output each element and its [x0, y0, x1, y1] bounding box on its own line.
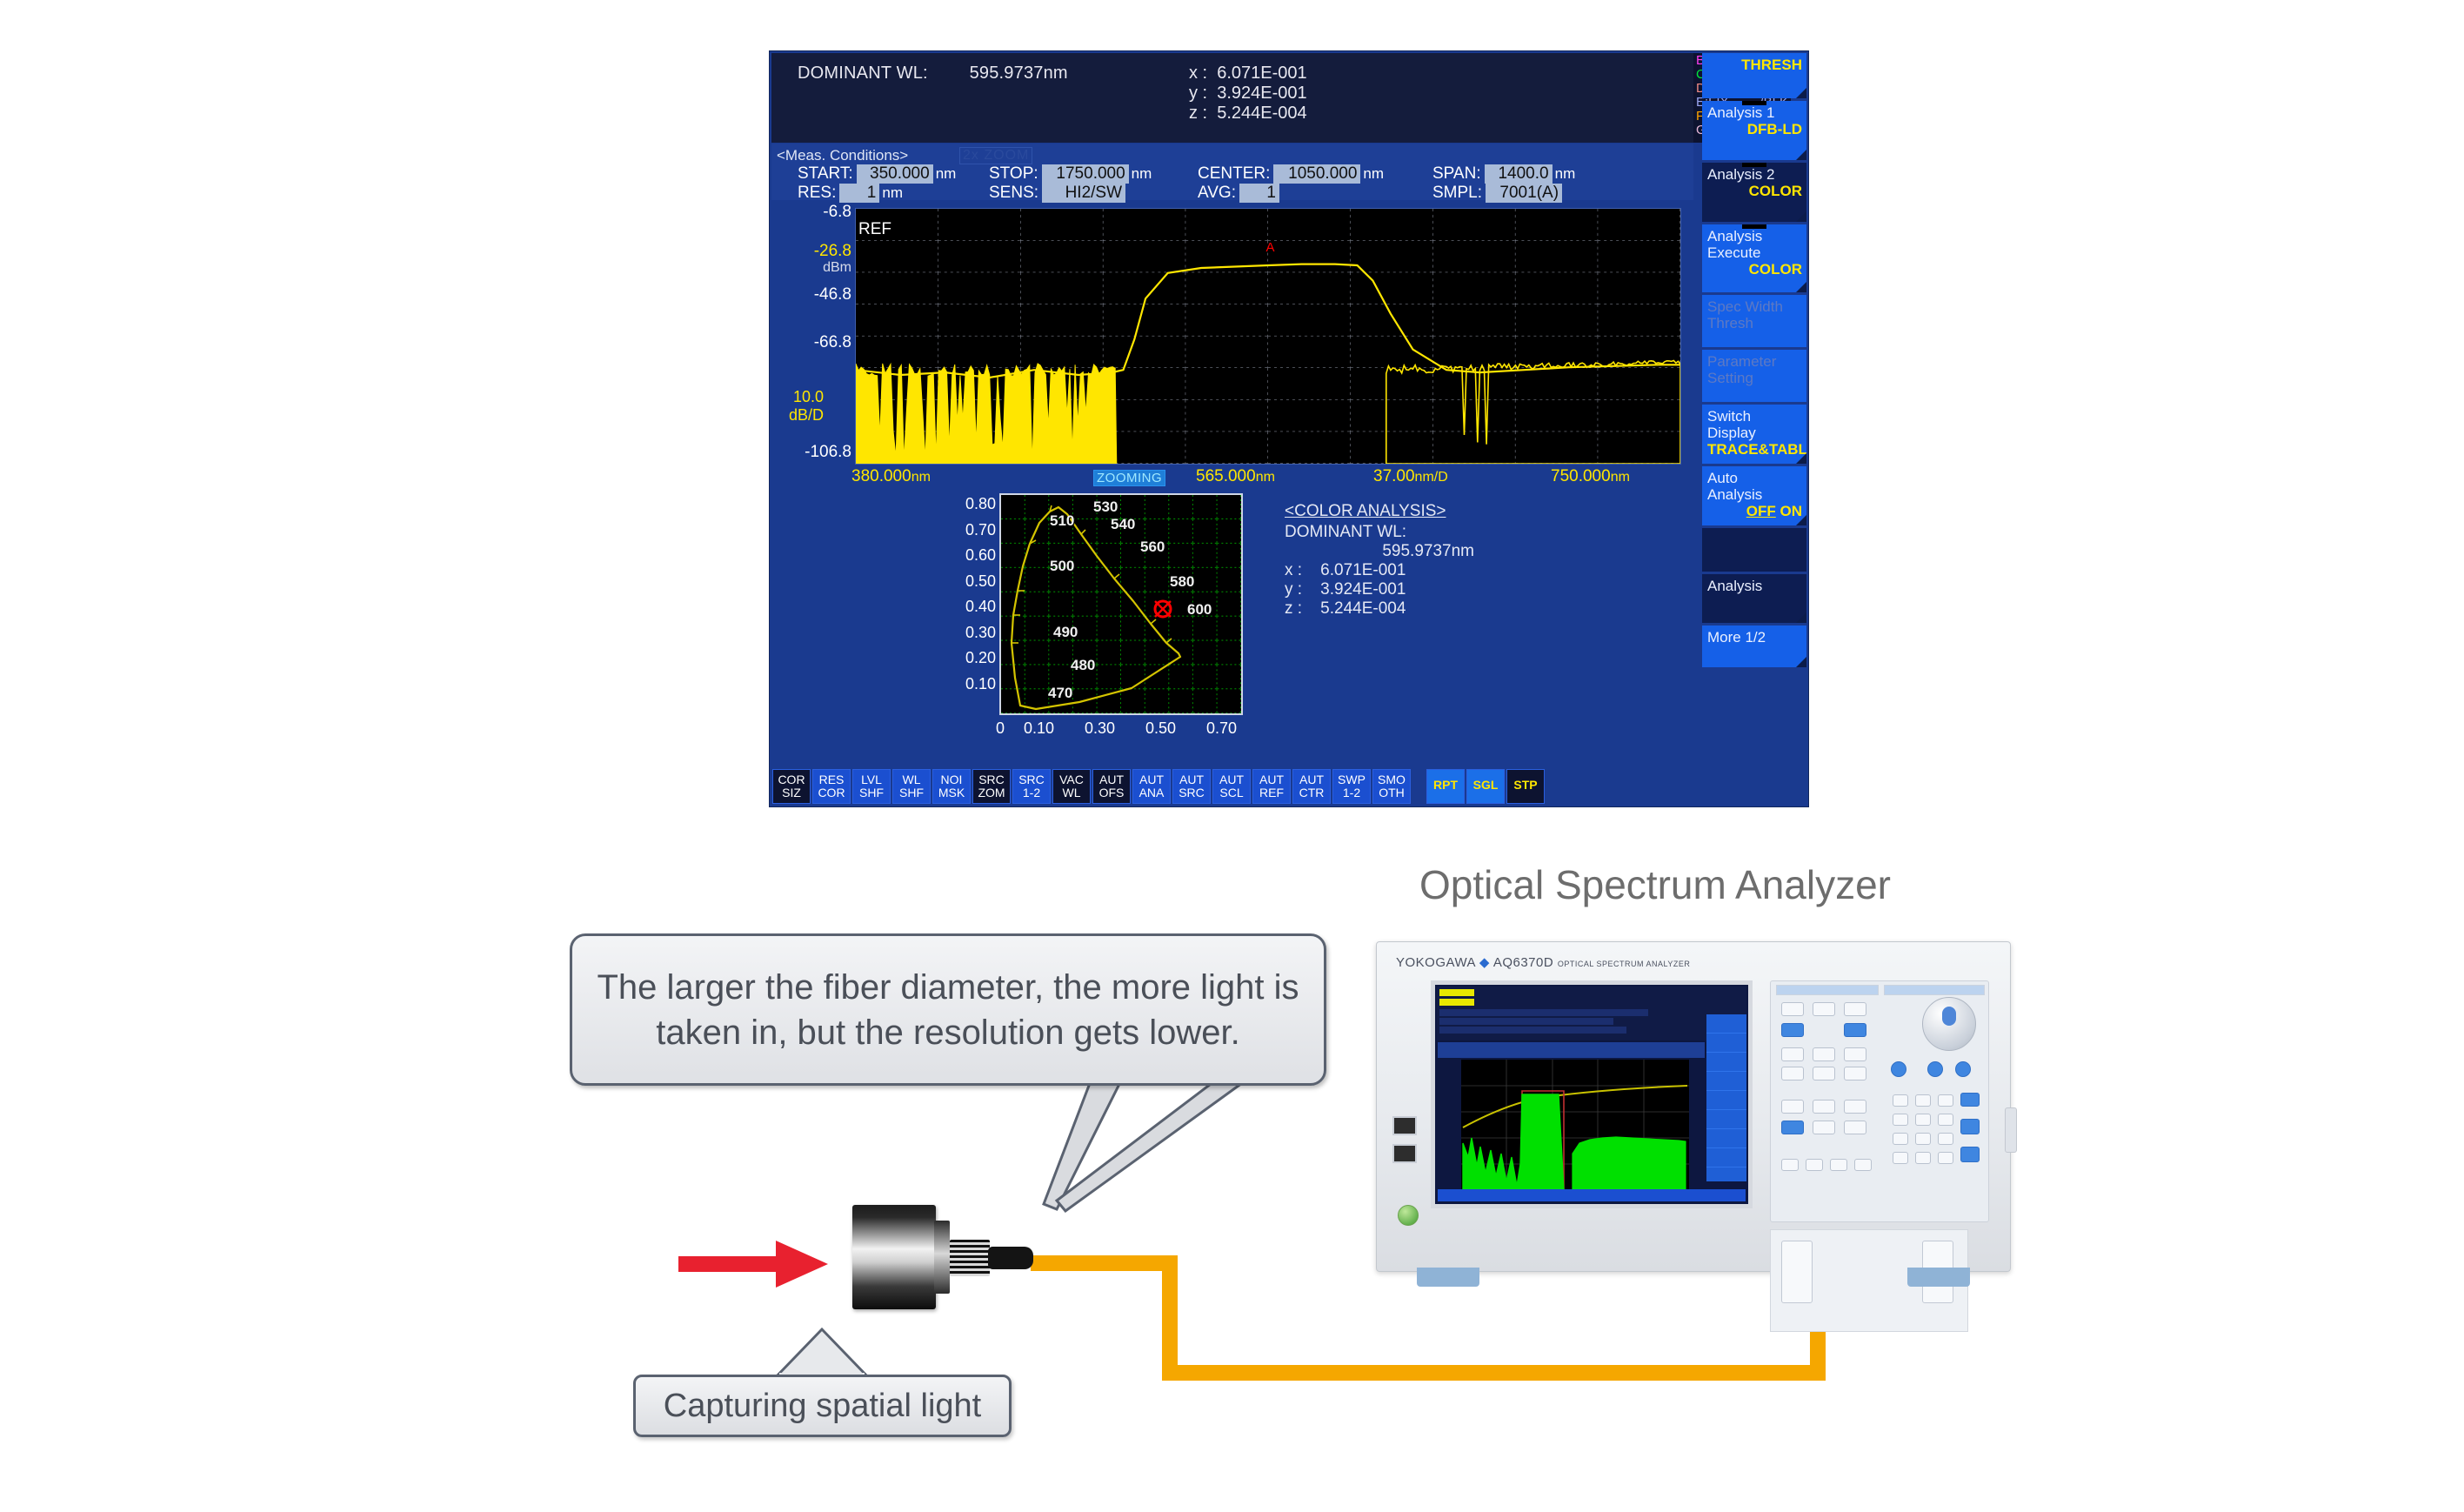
keybar-line2: COR	[813, 786, 850, 799]
keybar-line1: COR	[773, 773, 810, 786]
y-tick-ref: -26.8	[814, 242, 851, 261]
softkey-off-state[interactable]: OFF	[1746, 503, 1776, 519]
keybar-key-src-1-2[interactable]: SRC1-2	[1012, 769, 1051, 804]
x-value-row: x : 6.071E-001	[1189, 64, 1307, 84]
chroma-wavelength-tag: 580	[1170, 573, 1194, 591]
softkey-corner-icon	[1796, 282, 1806, 292]
collimator-body	[852, 1205, 936, 1309]
softkey-analysis-2[interactable]: Analysis 2COLOR	[1702, 163, 1806, 222]
ca-y-row: y : 3.924E-001	[1285, 580, 1511, 599]
x-axis-labels: 380.000nm ZOOMING 565.000nm 37.00nm/D 75…	[771, 467, 1693, 492]
softkey-corner-icon	[1796, 453, 1806, 464]
meas-field-smpl[interactable]: SMPL:7001(A)	[1432, 184, 1565, 203]
keybar-line1: AUT	[1173, 773, 1210, 786]
keybar-line2: MSK	[933, 786, 970, 799]
balloon-tail-right	[1057, 1079, 1248, 1211]
keybar-line2: OFS	[1093, 786, 1130, 799]
meas-field-key: RES:	[798, 184, 836, 203]
y-value-row: y : 3.924E-001	[1189, 84, 1307, 104]
ca-dominant-label: DOMINANT WL:	[1285, 523, 1511, 542]
softkey-corner-icon	[1796, 515, 1806, 525]
keybar-line1: WL	[893, 773, 930, 786]
keybar-key-vac-wl[interactable]: VACWL	[1052, 769, 1091, 804]
meas-field-stop[interactable]: STOP:1750.000nm	[989, 164, 1152, 184]
y-axis-unit: dBm	[823, 260, 851, 276]
meas-field-value: 7001(A)	[1486, 184, 1562, 203]
color-analysis-header: DOMINANT WL: 595.9737nm x : 6.071E-001 y…	[771, 53, 1693, 143]
keybar-line1: LVL	[853, 773, 890, 786]
instrument-softkeys	[1706, 1014, 1746, 1181]
meas-field-start[interactable]: START:350.000nm	[798, 164, 956, 184]
dominant-wavelength-header: DOMINANT WL: 595.9737nm	[798, 64, 1068, 84]
meas-field-value: 1050.000	[1273, 164, 1360, 184]
softkey-auto-analysis[interactable]: Auto AnalysisOFF ON	[1702, 466, 1806, 525]
keybar-line1: NOI	[933, 773, 970, 786]
keybar-line1: RES	[813, 773, 850, 786]
ref-level-marker: REF	[858, 220, 891, 239]
keybar-line1: AUT	[1093, 773, 1130, 786]
keybar-line1: SMO	[1373, 773, 1410, 786]
keybar-line1: AUT	[1213, 773, 1250, 786]
dominant-wl-label: DOMINANT WL:	[798, 64, 928, 84]
softkey-analysis-execute[interactable]: Analysis ExecuteCOLOR	[1702, 224, 1806, 292]
softkey-label: Switch Display	[1707, 408, 1802, 441]
chroma-x-tick: 0.30	[1085, 719, 1115, 738]
capture-label-tail	[774, 1329, 870, 1379]
capture-label: Capturing spatial light	[633, 1375, 1012, 1437]
bottom-keybar[interactable]: CORSIZRESCORLVLSHFWLSHFNOIMSKSRCZOMSRC1-…	[771, 768, 1793, 805]
chroma-wavelength-tag: 470	[1048, 685, 1072, 702]
softkey-item[interactable]	[1702, 528, 1806, 572]
chroma-y-tick: 0.40	[965, 598, 996, 616]
meas-field-span[interactable]: SPAN:1400.0nm	[1432, 164, 1575, 184]
y-div-unit: dB/D	[789, 406, 824, 425]
optical-input-port[interactable]	[1781, 1241, 1813, 1303]
keybar-line1: AUT	[1133, 773, 1170, 786]
softkey-corner-icon	[1796, 150, 1806, 160]
softkey-label: Parameter Setting	[1707, 353, 1802, 386]
keybar-key-src-zom[interactable]: SRCZOM	[972, 769, 1011, 804]
ca-z-row: z : 5.244E-004	[1285, 599, 1511, 619]
z-value-row: z : 5.244E-004	[1189, 104, 1307, 124]
ca-dominant-value: 595.9737nm	[1285, 542, 1511, 561]
softkey-menu[interactable]: THRESHAnalysis 1DFB-LDAnalysis 2COLORAna…	[1702, 53, 1806, 784]
rotary-dial[interactable]	[1922, 997, 1976, 1051]
meas-field-value: HI2/SW	[1042, 184, 1125, 203]
meas-field-value: 350.000	[857, 164, 933, 184]
meas-field-key: SPAN:	[1432, 164, 1481, 184]
chroma-wavelength-tag: 510	[1050, 512, 1074, 530]
keybar-line1: AUT	[1253, 773, 1290, 786]
osa-instrument: YOKOGAWA ◆ AQ6370D OPTICAL SPECTRUM ANAL…	[1376, 941, 2011, 1272]
meas-field-key: SENS:	[989, 184, 1038, 203]
keybar-line2: CTR	[1293, 786, 1330, 799]
page-title: Optical Spectrum Analyzer	[1419, 861, 1891, 908]
meas-field-center[interactable]: CENTER:1050.000nm	[1198, 164, 1384, 184]
instrument-bottom-bar	[1438, 1189, 1746, 1201]
keybar-line2: ANA	[1133, 786, 1170, 799]
zooming-badge: ZOOMING	[1093, 470, 1165, 486]
collimator-flange	[934, 1221, 950, 1294]
keybar-key-aut-ref[interactable]: AUTREF	[1252, 769, 1291, 804]
softkey-nub-icon	[1742, 224, 1766, 229]
x-tick-center: 565.000nm	[1196, 467, 1275, 486]
softkey-sub-label: TRACE&TABLE	[1707, 441, 1802, 458]
measurement-conditions-panel: <Meas. Conditions> 2x ZOOM START:350.000…	[771, 144, 1693, 200]
instrument-plot-svg	[1461, 1060, 1689, 1190]
spectrum-graph[interactable]: -6.8 -26.8 dBm -46.8 -66.8 10.0 dB/D -10…	[771, 201, 1693, 488]
spectrum-plot-area[interactable]: A	[855, 208, 1681, 465]
keybar-key-swp-1-2[interactable]: SWP1-2	[1332, 769, 1371, 804]
softkey-label: Analysis 2	[1707, 166, 1802, 183]
usb-port-lower	[1392, 1144, 1417, 1163]
color-analysis-title: <COLOR ANALYSIS>	[1285, 502, 1511, 521]
keybar-line1: VAC	[1053, 773, 1090, 786]
callout-text: The larger the fiber diameter, the more …	[595, 965, 1301, 1055]
instrument-keypad	[1770, 980, 1989, 1222]
softkey-label: Spec Width Thresh	[1707, 298, 1802, 331]
chromaticity-diagram[interactable]: 0.800.700.600.500.400.300.200.10	[958, 492, 1271, 753]
incoming-light-arrow	[678, 1234, 835, 1295]
softkey-thresh[interactable]: THRESH	[1702, 53, 1806, 98]
meas-conditions-title: <Meas. Conditions>	[777, 147, 908, 164]
instrument-display-header	[1437, 987, 1746, 1040]
x-div-label: 37.00nm/D	[1373, 467, 1448, 486]
keybar-key-lvl-shf[interactable]: LVLSHF	[852, 769, 891, 804]
x-tick-start: 380.000nm	[851, 467, 931, 486]
usb-port-upper	[1392, 1116, 1417, 1135]
meas-field-key: STOP:	[989, 164, 1038, 184]
softkey-sub-label: COLOR	[1707, 261, 1802, 278]
chroma-wavelength-tag: 480	[1071, 657, 1095, 674]
instrument-subtitle: OPTICAL SPECTRUM ANALYZER	[1558, 960, 1691, 968]
callout-balloon: The larger the fiber diameter, the more …	[570, 933, 1326, 1086]
chroma-x-tick: 0.50	[1145, 719, 1176, 738]
instrument-foot-right	[1907, 1268, 1970, 1287]
chroma-x-tick: 0.10	[1024, 719, 1054, 738]
ca-x-row: x : 6.071E-001	[1285, 561, 1511, 580]
meas-field-key: CENTER:	[1198, 164, 1270, 184]
keybar-key-smo-oth[interactable]: SMOOTH	[1372, 769, 1411, 804]
brand-diamond-icon: ◆	[1479, 955, 1493, 970]
softkey-more-1-2[interactable]: More 1/2	[1702, 626, 1806, 667]
spectrum-svg: A	[856, 209, 1680, 464]
meas-field-unit: nm	[882, 184, 903, 202]
softkey-switch-display[interactable]: Switch DisplayTRACE&TABLE	[1702, 405, 1806, 464]
y-tick-0: -6.8	[823, 203, 851, 222]
meas-field-key: AVG:	[1198, 184, 1236, 203]
meas-field-unit: nm	[1555, 165, 1576, 183]
keybar-line1: SRC	[973, 773, 1010, 786]
softkey-sub-label: DFB-LD	[1707, 121, 1802, 137]
keybar-line2: SCL	[1213, 786, 1250, 799]
power-led-icon[interactable]	[1398, 1205, 1419, 1226]
keybar-line2: SRC	[1173, 786, 1210, 799]
model-name: AQ6370D	[1493, 955, 1553, 970]
softkey-parameter-setting[interactable]: Parameter Setting	[1702, 350, 1806, 402]
softkey-nub-icon	[1742, 163, 1766, 167]
softkey-corner-icon	[1796, 612, 1806, 623]
keybar-line2: SHF	[893, 786, 930, 799]
softkey-corner-icon	[1796, 88, 1806, 98]
meas-field-key: SMPL:	[1432, 184, 1482, 203]
meas-field-avg[interactable]: AVG:1	[1198, 184, 1282, 203]
chroma-y-tick: 0.50	[965, 572, 996, 591]
meas-field-res[interactable]: RES:1nm	[798, 184, 903, 203]
xyz-values: x : 6.071E-001 y : 3.924E-001 z : 5.244E…	[1189, 64, 1307, 124]
chroma-wavelength-tag: 490	[1053, 624, 1078, 641]
keybar-line1: SWP	[1333, 773, 1370, 786]
keybar-line1: SRC	[1013, 773, 1050, 786]
keybar-key-res-cor[interactable]: RESCOR	[812, 769, 851, 804]
keybar-key-aut-ctr[interactable]: AUTCTR	[1292, 769, 1331, 804]
y-div-value: 10.0	[793, 388, 824, 406]
fiber-ferrule	[950, 1240, 990, 1276]
keybar-line2: SIZ	[773, 786, 810, 799]
chroma-wavelength-tag: 500	[1050, 558, 1074, 575]
chroma-y-tick: 0.10	[965, 675, 996, 693]
keybar-line2: SHF	[853, 786, 890, 799]
softkey-analysis-1[interactable]: Analysis 1DFB-LD	[1702, 101, 1806, 160]
osa-screen: DOMINANT WL: 595.9737nm x : 6.071E-001 y…	[769, 50, 1809, 807]
softkey-sub-label: THRESH	[1707, 57, 1802, 73]
keybar-line1: AUT	[1293, 773, 1330, 786]
chroma-x-tick: 0.70	[1206, 719, 1237, 738]
zoom-tag: 2x ZOOM	[959, 147, 1032, 164]
softkey-label: Analysis	[1707, 578, 1802, 594]
y-tick-2: -46.8	[814, 285, 851, 304]
chroma-wavelength-tag: 540	[1111, 516, 1135, 533]
keybar-key-aut-ana[interactable]: AUTANA	[1132, 769, 1171, 804]
brand-name: YOKOGAWA	[1396, 955, 1475, 970]
balloon-tail-left	[1044, 1079, 1122, 1209]
softkey-label: Auto Analysis	[1707, 470, 1802, 503]
softkey-corner-icon	[1796, 211, 1806, 222]
meas-field-unit: nm	[1132, 165, 1152, 183]
chroma-wavelength-tag: 560	[1140, 539, 1165, 556]
instrument-foot-left	[1417, 1268, 1479, 1287]
meas-field-sens[interactable]: SENS:HI2/SW	[989, 184, 1128, 203]
keybar-line2: ZOM	[973, 786, 1010, 799]
chroma-y-tick: 0.70	[965, 521, 996, 539]
softkey-label: Analysis 1	[1707, 104, 1802, 121]
side-knob	[2005, 1107, 2017, 1153]
fiber-boot	[988, 1247, 1033, 1269]
softkey-nub-icon	[1742, 101, 1766, 105]
chroma-x-tick: 0	[996, 719, 1005, 738]
keybar-key-noi-msk[interactable]: NOIMSK	[932, 769, 971, 804]
softkey-label: More 1/2	[1707, 629, 1802, 646]
keybar-line2: 1-2	[1013, 786, 1050, 799]
meas-field-value: 1	[839, 184, 879, 203]
meas-field-value: 1	[1239, 184, 1279, 203]
chroma-y-tick: 0.20	[965, 649, 996, 667]
keybar-key-sgl[interactable]: SGL	[1466, 769, 1505, 804]
y-tick-4: -106.8	[805, 443, 851, 462]
keybar-line2: OTH	[1373, 786, 1410, 799]
chroma-y-tick: 0.30	[965, 624, 996, 642]
keybar-key-aut-ofs[interactable]: AUTOFS	[1092, 769, 1131, 804]
keybar-key-stp[interactable]: STP	[1506, 769, 1545, 804]
softkey-label: Analysis Execute	[1707, 228, 1802, 261]
softkey-sub-label: OFF ON	[1707, 503, 1802, 519]
meas-field-unit: nm	[1363, 165, 1384, 183]
x-tick-stop: 750.000nm	[1551, 467, 1630, 486]
keybar-divider	[1412, 769, 1425, 804]
meas-field-unit: nm	[936, 165, 957, 183]
keybar-key-aut-scl[interactable]: AUTSCL	[1212, 769, 1251, 804]
softkey-spec-width-thresh[interactable]: Spec Width Thresh	[1702, 295, 1806, 347]
instrument-brand-label: YOKOGAWA ◆ AQ6370D OPTICAL SPECTRUM ANAL…	[1396, 954, 1690, 970]
keybar-key-wl-shf[interactable]: WLSHF	[892, 769, 931, 804]
chroma-y-tick: 0.60	[965, 546, 996, 565]
keybar-line2: 1-2	[1333, 786, 1370, 799]
softkey-analysis[interactable]: Analysis	[1702, 574, 1806, 623]
chroma-y-tick: 0.80	[965, 495, 996, 513]
keybar-key-cor-siz[interactable]: CORSIZ	[772, 769, 811, 804]
meas-field-key: START:	[798, 164, 853, 184]
marker-a-label: A	[1266, 240, 1275, 255]
meas-field-value: 1750.000	[1042, 164, 1129, 184]
chroma-wavelength-tag: 600	[1187, 601, 1212, 619]
dominant-wl-value: 595.9737nm	[970, 64, 1068, 84]
keybar-key-aut-src[interactable]: AUTSRC	[1172, 769, 1211, 804]
keybar-key-rpt[interactable]: RPT	[1426, 769, 1465, 804]
keybar-line2: REF	[1253, 786, 1290, 799]
chroma-wavelength-tag: 530	[1093, 498, 1118, 516]
capture-label-text: Capturing spatial light	[664, 1388, 981, 1425]
y-tick-3: -66.8	[814, 333, 851, 352]
y-axis: -6.8 -26.8 dBm -46.8 -66.8 10.0 dB/D -10…	[771, 201, 855, 488]
instrument-display	[1431, 980, 1753, 1208]
softkey-corner-icon	[1796, 657, 1806, 667]
fiber-collimator	[852, 1205, 1000, 1309]
meas-field-value: 1400.0	[1485, 164, 1553, 184]
softkey-sub-label: COLOR	[1707, 183, 1802, 199]
instrument-plot	[1461, 1060, 1689, 1190]
keybar-line2: WL	[1053, 786, 1090, 799]
color-analysis-panel: <COLOR ANALYSIS> DOMINANT WL: 595.9737nm…	[1285, 502, 1511, 619]
